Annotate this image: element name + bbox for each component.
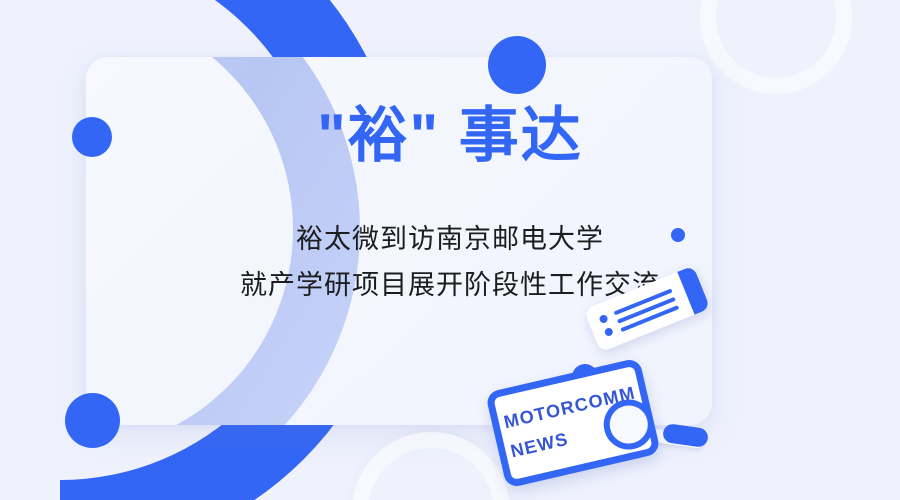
news-banner-graphic: "裕" 事达 裕太微到访南京邮电大学 就产学研项目展开阶段性工作交流 MOTOR… <box>0 0 900 500</box>
subtitle-block: 裕太微到访南京邮电大学 就产学研项目展开阶段性工作交流 <box>0 216 900 308</box>
page-title: "裕" 事达 <box>0 102 900 169</box>
megaphone-icon: MOTORCOMM NEWS <box>492 372 722 500</box>
subtitle-line-2: 就产学研项目展开阶段性工作交流 <box>0 262 900 308</box>
megaphone-body: MOTORCOMM NEWS <box>485 357 661 488</box>
dot-decoration-bottom-left <box>65 393 120 448</box>
subtitle-line-1: 裕太微到访南京邮电大学 <box>0 216 900 262</box>
dot-decoration-top-right <box>488 36 546 94</box>
